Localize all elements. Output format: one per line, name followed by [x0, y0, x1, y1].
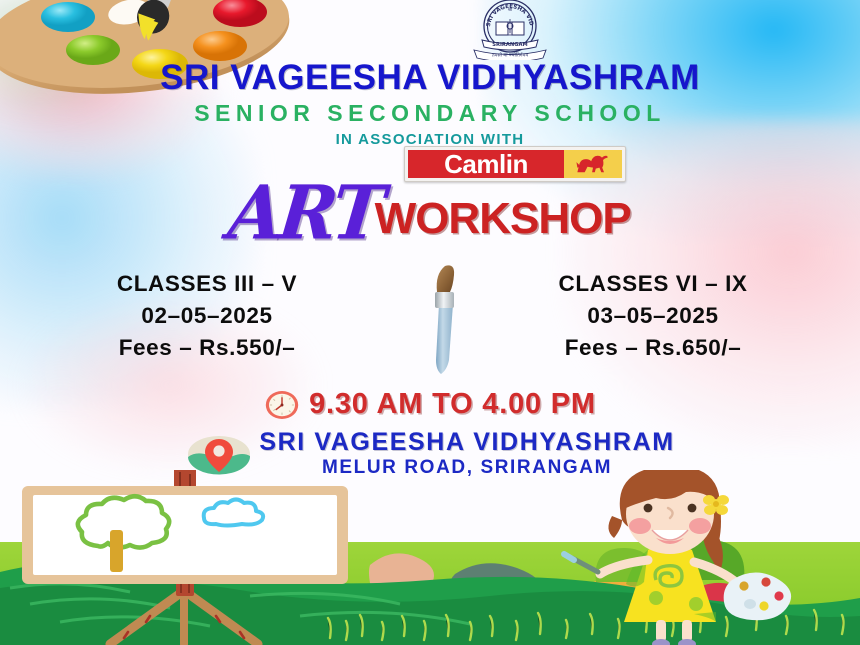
- camlin-sponsor-logo: Camlin: [404, 146, 626, 182]
- school-crest-logo: SRI VAGEESHA VIDHYASHRAM श्री SRIRANGAM …: [444, 0, 576, 60]
- session-date: 02–05–2025: [42, 300, 372, 332]
- session-column-senior: CLASSES VI – IX 03–05–2025 Fees – Rs.650…: [488, 268, 818, 364]
- session-fees: Fees – Rs.650/–: [488, 332, 818, 364]
- camlin-wordmark: Camlin: [444, 149, 528, 180]
- poster-canvas: SRI VAGEESHA VIDHYASHRAM श्री SRIRANGAM …: [0, 0, 860, 645]
- school-name: SRI VAGEESHA VIDHYASHRAM: [0, 60, 860, 96]
- art-word: ART: [226, 181, 384, 245]
- school-subtitle: SENIOR SECONDARY SCHOOL: [0, 99, 860, 129]
- session-fees: Fees – Rs.550/–: [42, 332, 372, 364]
- timing-text: 9.30 AM TO 4.00 PM: [309, 388, 596, 421]
- session-date: 03–05–2025: [488, 300, 818, 332]
- bottom-scene-illustration: [0, 470, 860, 645]
- camlin-red-panel: Camlin: [408, 150, 564, 178]
- camlin-yellow-panel: [564, 150, 622, 178]
- svg-text:SRIRANGAM: SRIRANGAM: [492, 42, 527, 48]
- paint-brush-icon: [419, 258, 475, 378]
- session-classes: CLASSES III – V: [42, 268, 372, 300]
- timing-row: 9.30 AM TO 4.00 PM: [0, 388, 860, 421]
- venue-name: SRI VAGEESHA VIDHYASHRAM: [259, 428, 674, 456]
- workshop-title: ART WORKSHOP: [0, 183, 860, 245]
- camel-icon: [570, 150, 616, 178]
- session-column-junior: CLASSES III – V 02–05–2025 Fees – Rs.550…: [42, 268, 372, 364]
- clock-icon: [264, 389, 300, 421]
- workshop-word: WORKSHOP: [375, 197, 631, 241]
- header-block: SRI VAGEESHA VIDHYASHRAM SENIOR SECONDAR…: [0, 60, 860, 148]
- session-classes: CLASSES VI – IX: [488, 268, 818, 300]
